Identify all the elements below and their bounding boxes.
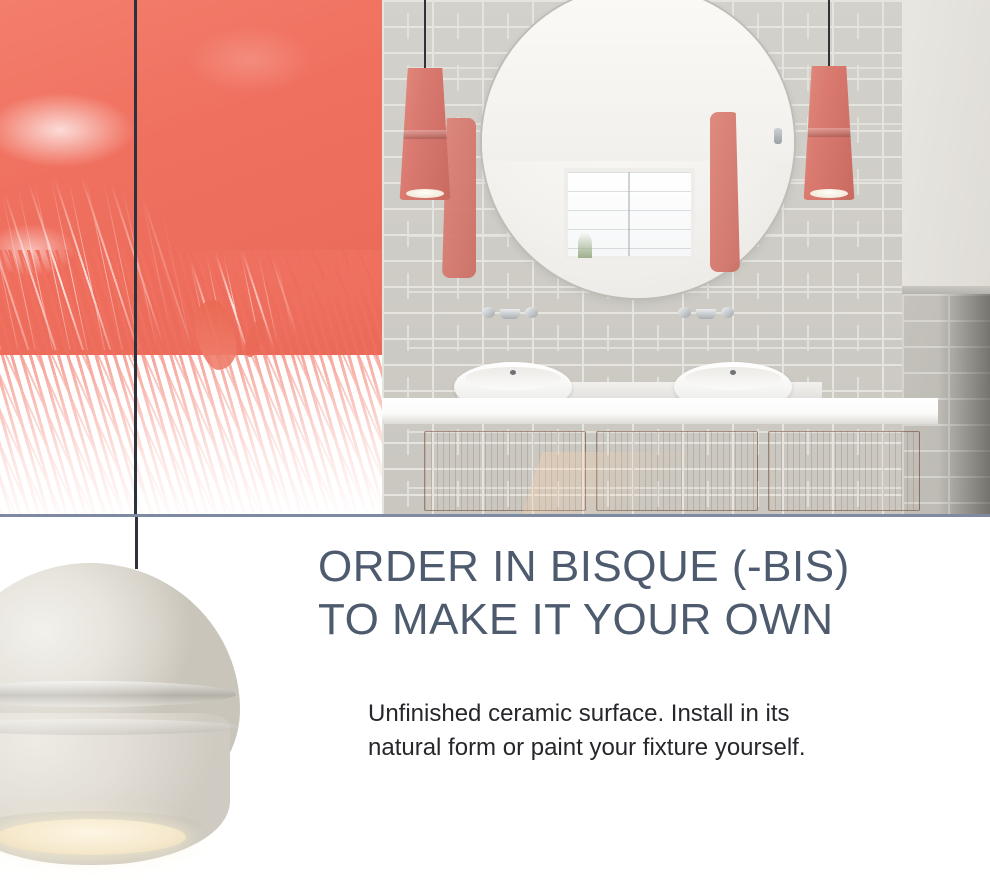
horizontal-divider <box>0 514 990 517</box>
left-coral-pendant <box>398 68 452 200</box>
mirror-plant-reflection <box>578 232 592 258</box>
bisque-pendant-cord <box>135 517 138 569</box>
swatch-vertical-seam <box>134 0 137 516</box>
faucet-handle-left <box>482 307 495 318</box>
faucet-handle-left <box>678 307 691 318</box>
sunlight-patch <box>522 452 733 516</box>
side-wall-shadow <box>938 294 990 516</box>
top-image-band <box>0 0 990 516</box>
mirror-mount-clip <box>774 128 782 144</box>
coral-paint-swatch <box>0 0 382 516</box>
round-mirror <box>482 0 794 298</box>
right-pendant-reflection <box>710 112 740 272</box>
right-pendant-cord <box>828 0 830 70</box>
left-pendant-cord <box>424 0 426 72</box>
promo-graphic: ORDER IN BISQUE (-BIS) TO MAKE IT YOUR O… <box>0 0 990 882</box>
faucet-spout <box>696 309 716 319</box>
pendant-diffuser <box>406 189 445 198</box>
sink-drain <box>730 370 736 375</box>
mirror-ceiling-reflection <box>482 0 794 161</box>
paint-texture <box>0 0 382 516</box>
right-wall-faucet <box>678 305 734 322</box>
faucet-handle-right <box>721 307 734 318</box>
quartz-countertop <box>382 398 938 424</box>
bottom-content-band: ORDER IN BISQUE (-BIS) TO MAKE IT YOUR O… <box>0 517 990 882</box>
promo-description: Unfinished ceramic surface. Install in i… <box>368 697 968 765</box>
plaster-wall-return <box>902 0 990 290</box>
pendant-shade <box>802 66 856 200</box>
faucet-handle-right <box>525 307 538 318</box>
bathroom-interior-photo <box>382 0 990 516</box>
faucet-spout <box>500 309 520 319</box>
pendant-ridge <box>398 130 452 139</box>
tile-dado-cap <box>902 286 990 294</box>
sink-drain <box>510 370 516 375</box>
pendant-ridge <box>802 128 856 137</box>
paint-white-flecks <box>0 90 382 350</box>
bisque-pendant-product-photo <box>0 563 240 863</box>
pendant-diffuser <box>810 189 849 198</box>
page-title: ORDER IN BISQUE (-BIS) TO MAKE IT YOUR O… <box>318 540 978 646</box>
left-wall-faucet <box>482 305 538 322</box>
pendant-shade <box>398 68 452 200</box>
pendant-lit-diffuser <box>0 819 186 855</box>
promo-copy-block: ORDER IN BISQUE (-BIS) TO MAKE IT YOUR O… <box>318 540 978 646</box>
vanity-door-right <box>768 431 920 511</box>
right-coral-pendant <box>802 66 856 200</box>
